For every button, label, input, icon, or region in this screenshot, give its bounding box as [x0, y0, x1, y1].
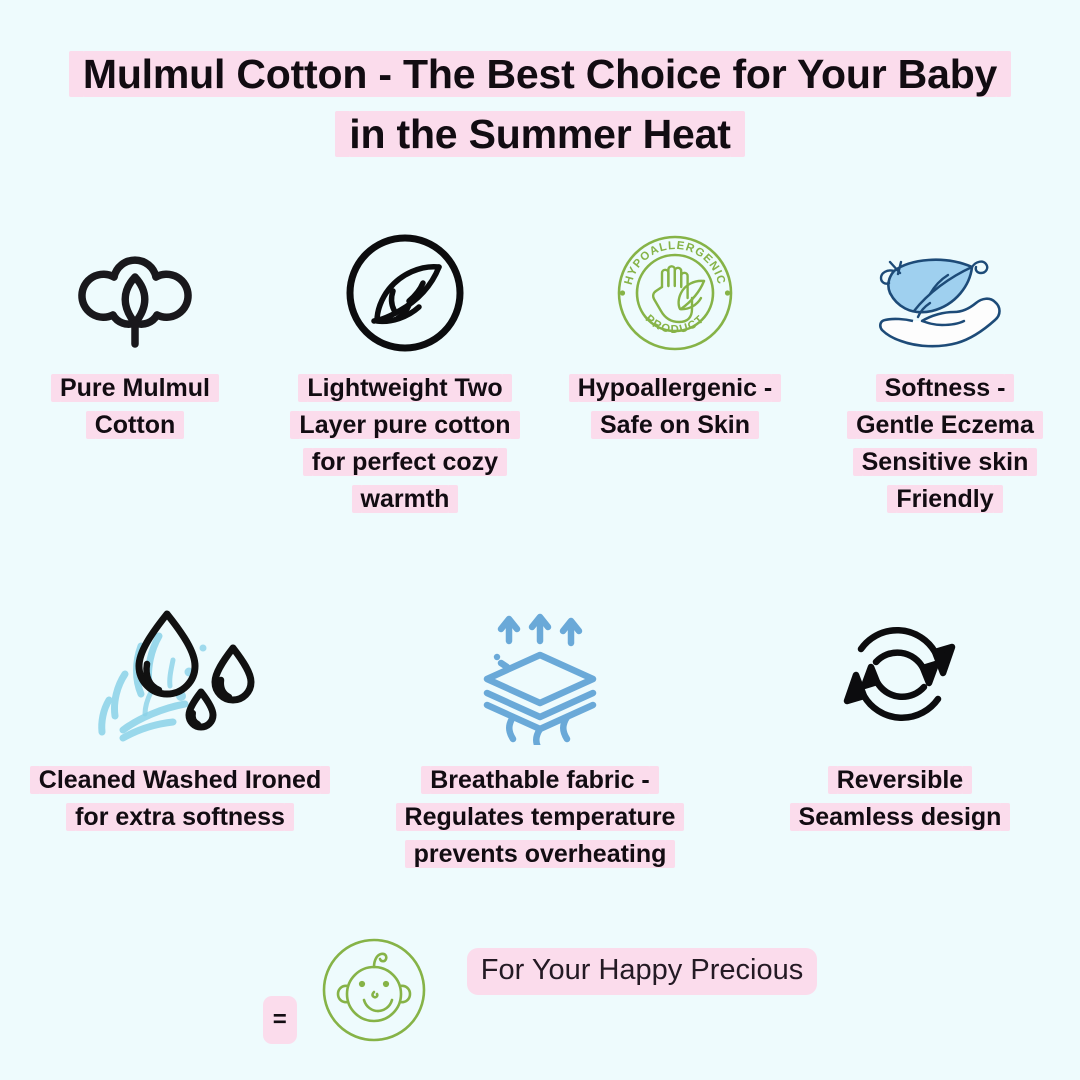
- label-line: Softness -: [885, 374, 1006, 402]
- label-line: Cotton: [95, 411, 176, 439]
- water-droplets-splash-icon: [85, 600, 275, 750]
- feather-in-circle-icon: [343, 228, 467, 358]
- breathable-layers-icon: [465, 600, 615, 750]
- title-line-1: Mulmul Cotton - The Best Choice for Your…: [83, 51, 997, 97]
- label-line: Pure Mulmul: [60, 374, 210, 402]
- page-title: Mulmul Cotton - The Best Choice for Your…: [0, 0, 1080, 165]
- label-line: Reversible: [837, 766, 963, 794]
- label-line: Cleaned Washed Ironed: [39, 766, 321, 794]
- svg-text:PRODUCT: PRODUCT: [643, 313, 708, 336]
- label-line: Sensitive skin: [862, 448, 1029, 476]
- feature-cell-hypoallergenic: HYPOALLERGENIC PRODUCT Hypoallergenic -: [540, 228, 810, 518]
- feather-on-hand-icon: [860, 228, 1030, 358]
- feature-cell-cleaned-washed-ironed: Cleaned Washed Ironed for extra softness: [0, 600, 360, 873]
- feature-cell-lightweight-two-layer: Lightweight Two Layer pure cotton for pe…: [270, 228, 540, 518]
- feature-row-2: Cleaned Washed Ironed for extra softness: [0, 600, 1080, 873]
- label-line: Breathable fabric -: [430, 766, 650, 794]
- label-line: Gentle Eczema: [856, 411, 1034, 439]
- equals-badge: =: [263, 996, 297, 1044]
- footer-section: = For Your Happy Precious: [0, 930, 1080, 1050]
- feature-cell-reversible: Reversible Seamless design: [720, 600, 1080, 873]
- reversible-arrows-icon: [839, 600, 961, 750]
- label-line: Hypoallergenic -: [578, 374, 773, 402]
- feature-label-softness: Softness - Gentle Eczema Sensitive skin …: [856, 370, 1034, 518]
- label-line: Friendly: [896, 485, 993, 513]
- label-line: warmth: [361, 485, 450, 513]
- label-line: Layer pure cotton: [299, 411, 510, 439]
- label-line: for extra softness: [75, 803, 285, 831]
- feature-cell-pure-mulmul-cotton: Pure Mulmul Cotton: [0, 228, 270, 518]
- label-line: Regulates temperature: [405, 803, 676, 831]
- label-line: Seamless design: [799, 803, 1002, 831]
- footer-tagline: For Your Happy Precious: [467, 948, 817, 995]
- label-line: for perfect cozy: [312, 448, 498, 476]
- feature-label-hypoallergenic: Hypoallergenic - Safe on Skin: [578, 370, 773, 444]
- feature-label-pure-mulmul-cotton: Pure Mulmul Cotton: [60, 370, 210, 444]
- feature-label-breathable-fabric: Breathable fabric - Regulates temperatur…: [405, 762, 676, 873]
- baby-face-icon: [319, 930, 429, 1050]
- feature-label-reversible: Reversible Seamless design: [799, 762, 1002, 836]
- feature-label-cleaned-washed-ironed: Cleaned Washed Ironed for extra softness: [39, 762, 321, 836]
- feature-row-1: Pure Mulmul Cotton Lightweight Two Layer…: [0, 228, 1080, 518]
- feature-cell-breathable-fabric: Breathable fabric - Regulates temperatur…: [360, 600, 720, 873]
- title-line-2: in the Summer Heat: [349, 111, 730, 157]
- label-line: prevents overheating: [414, 840, 667, 868]
- cotton-boll-icon: [70, 228, 200, 358]
- feature-cell-softness: Softness - Gentle Eczema Sensitive skin …: [810, 228, 1080, 518]
- label-line: Safe on Skin: [600, 411, 750, 439]
- label-line: Lightweight Two: [307, 374, 502, 402]
- badge-bottom-text: PRODUCT: [643, 313, 708, 336]
- feature-label-lightweight-two-layer: Lightweight Two Layer pure cotton for pe…: [299, 370, 510, 518]
- hypoallergenic-badge-icon: HYPOALLERGENIC PRODUCT: [611, 228, 739, 358]
